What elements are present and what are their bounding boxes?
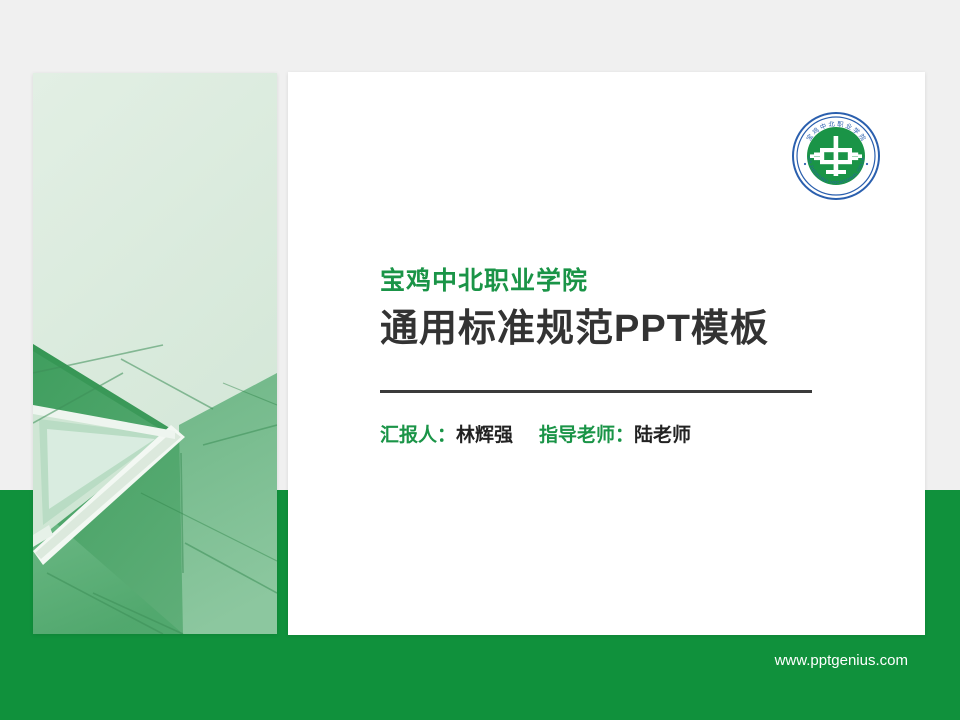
presenter-value: 林辉强 xyxy=(456,425,513,446)
page-title: 通用标准规范PPT模板 xyxy=(380,307,860,353)
presentation-slide: 宝 鸡 中 北 职 业 学 院 BAOJI ZHONGBEI VOCATIONA… xyxy=(0,0,960,720)
meta-row: 汇报人：林辉强指导老师：陆老师 xyxy=(380,424,691,449)
cover-photo xyxy=(33,73,277,634)
advisor-value: 陆老师 xyxy=(634,425,691,446)
school-name: 宝鸡中北职业学院 xyxy=(380,266,860,297)
college-emblem-icon: 宝 鸡 中 北 职 业 学 院 BAOJI ZHONGBEI VOCATIONA… xyxy=(792,112,880,200)
architecture-photo-illustration xyxy=(33,73,277,634)
presenter-label: 汇报人： xyxy=(380,425,456,446)
advisor-label: 指导老师： xyxy=(539,425,634,446)
title-block: 宝鸡中北职业学院 通用标准规范PPT模板 xyxy=(380,266,860,353)
footer-url: www.pptgenius.com xyxy=(0,652,908,669)
college-logo: 宝 鸡 中 北 职 业 学 院 BAOJI ZHONGBEI VOCATIONA… xyxy=(792,112,880,200)
title-divider xyxy=(380,390,812,393)
